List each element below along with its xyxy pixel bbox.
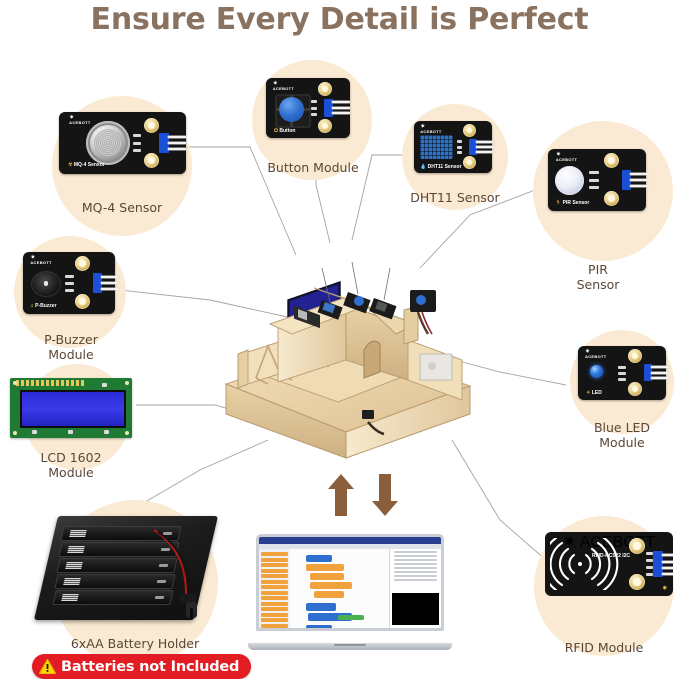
music-note-icon: ♫ — [30, 303, 34, 309]
laptop-lid — [256, 534, 444, 631]
mounting-hole — [13, 381, 17, 385]
mounting-hole — [144, 153, 159, 168]
connector-3pin — [159, 133, 169, 153]
infographic-canvas: Ensure Every Detail is Perfect ✷ ACEBOTT — [0, 0, 679, 679]
buzzer-icon — [31, 271, 61, 297]
ide-block-palette[interactable] — [259, 549, 290, 629]
connector-3pin — [622, 170, 631, 190]
module-mq4-sensor[interactable]: ✷ ACEBOTT ☢ MQ-4 Sensor — [59, 112, 186, 174]
ide-titlebar — [259, 537, 441, 544]
code-block[interactable] — [306, 603, 336, 611]
label-button-module: Button Module — [238, 160, 388, 175]
gas-sensor-icon — [86, 121, 130, 165]
module-silkscreen: ☀ LED — [586, 390, 602, 396]
label-p-buzzer-module: P-Buzzer Module — [10, 332, 132, 362]
wooden-smart-house-model — [218, 232, 476, 460]
code-block[interactable] — [338, 615, 364, 620]
connector-3pin — [324, 99, 333, 117]
code-block[interactable] — [310, 582, 352, 589]
module-blue-led[interactable]: ✷ ACEBOTT ☀ LED — [578, 346, 666, 400]
ide-body — [259, 549, 441, 629]
acebott-logo-icon: ✷ ACEBOTT — [69, 116, 90, 125]
label-blueled-line2: Module — [599, 435, 644, 450]
mounting-hole — [629, 574, 645, 590]
acebott-logo-icon: ✷ ACEBOTT — [420, 125, 441, 134]
label-battery-holder: 6xAA Battery Holder — [40, 636, 230, 651]
arrow-down-icon — [372, 474, 398, 521]
rfid-wave-icon — [550, 538, 624, 590]
pir-dome-icon — [555, 166, 584, 195]
warning-text: Batteries not Included — [61, 659, 251, 675]
acebott-logo-icon: ✷ ACEBOTT — [556, 153, 577, 162]
connector-4pin — [653, 551, 663, 577]
ide-script-canvas[interactable] — [290, 549, 389, 629]
connector-3pin — [469, 139, 477, 155]
connector-3pin — [644, 364, 652, 381]
mounting-hole — [144, 118, 159, 133]
button-icon[interactable] — [279, 97, 304, 122]
ide-screen[interactable] — [259, 537, 441, 628]
mounting-hole — [318, 82, 332, 96]
module-silkscreen: ☢ MQ-4 Sensor — [68, 162, 105, 168]
rfid-badge-icon: ◉ — [663, 585, 667, 591]
pin-pads — [133, 134, 141, 152]
label-pir-line2: Sensor — [577, 277, 620, 292]
label-dht11-sensor: DHT11 Sensor — [380, 190, 530, 205]
acebott-logo-icon: ✷ ACEBOTT — [585, 350, 606, 359]
label-lcd-line1: LCD 1602 — [40, 450, 101, 465]
mounting-hole — [604, 191, 619, 206]
code-block[interactable] — [314, 591, 344, 598]
module-p-buzzer[interactable]: ✷ ACEBOTT ♫ P-Buzzer — [23, 252, 115, 314]
module-silkscreen: RFID-RC522 I2C — [589, 553, 633, 560]
mounting-hole — [13, 431, 17, 435]
mounting-hole — [628, 382, 642, 396]
pin-pads — [618, 366, 626, 381]
module-silkscreen: ♫ P-Buzzer — [30, 303, 57, 309]
ide-simulator-view — [392, 593, 439, 625]
module-silkscreen: 💧 DHT11 Sensor — [420, 164, 462, 170]
solder-pad — [104, 430, 109, 434]
lcd-display-icon — [20, 390, 126, 428]
label-mq4-sensor: MQ-4 Sensor — [42, 200, 202, 215]
connector-3pin — [93, 273, 102, 293]
mounting-hole — [604, 153, 619, 168]
power-icon: ⏻ — [274, 128, 278, 134]
mounting-hole — [318, 119, 332, 133]
solder-pad — [32, 430, 37, 434]
mounting-hole — [75, 256, 90, 271]
gas-icon: ☢ — [68, 162, 72, 168]
bulb-icon: ☀ — [586, 390, 590, 396]
battery-holder — [46, 516, 206, 620]
module-button[interactable]: ✷ ACEBOTT ⏻ Button — [266, 78, 350, 138]
module-lcd-1602[interactable] — [10, 378, 132, 438]
pin-pads — [589, 171, 599, 189]
solder-pad — [102, 383, 107, 387]
warning-triangle-icon — [39, 659, 56, 674]
battery-wires — [46, 516, 206, 620]
pin-header — [16, 380, 84, 385]
label-pbuzzer-line2: Module — [48, 347, 93, 362]
module-pir-sensor[interactable]: ✷ ACEBOTT 🏃 PIR Sensor — [548, 149, 646, 211]
acebott-logo-icon: ✷ ACEBOTT — [273, 82, 294, 91]
humidity-icon: 💧 — [420, 164, 426, 170]
module-rfid[interactable]: ✷ ACEBOTT RFID-RC522 I2C ◉ — [545, 532, 673, 596]
mounting-hole — [125, 381, 129, 385]
pin-pads — [646, 552, 653, 576]
ide-preview-panel — [389, 549, 441, 629]
code-block[interactable] — [306, 555, 332, 562]
mounting-hole — [629, 538, 645, 554]
label-blueled-line1: Blue LED — [594, 420, 650, 435]
label-pir-sensor: PIR Sensor — [543, 262, 653, 292]
mounting-hole — [75, 294, 90, 309]
solder-pad — [68, 430, 73, 434]
mounting-hole — [628, 349, 642, 363]
arrow-up-icon — [328, 474, 354, 521]
module-silkscreen: ⏻ Button — [274, 128, 295, 134]
label-rfid-module: RFID Module — [534, 640, 674, 655]
mounting-hole — [463, 124, 476, 137]
code-block[interactable] — [306, 625, 332, 629]
thermometer-icon — [420, 135, 453, 159]
code-block[interactable] — [310, 573, 344, 580]
motion-person-icon: 🏃 — [555, 200, 561, 206]
label-pbuzzer-line1: P-Buzzer — [44, 332, 98, 347]
label-blue-led-module: Blue LED Module — [565, 420, 679, 450]
pin-pads — [457, 140, 462, 154]
pin-pads — [311, 100, 317, 116]
label-lcd-1602-module: LCD 1602 Module — [8, 450, 134, 480]
label-pir-line1: PIR — [588, 262, 608, 277]
module-dht11-sensor[interactable]: ✷ ACEBOTT 💧 DHT11 Sensor — [414, 121, 492, 173]
laptop-icon — [256, 534, 444, 650]
acebott-logo-icon: ✷ ACEBOTT — [30, 256, 51, 265]
laptop-base — [248, 643, 451, 650]
led-bulb-icon — [590, 365, 603, 378]
module-silkscreen: 🏃 PIR Sensor — [555, 200, 589, 206]
batteries-not-included-banner: Batteries not Included — [32, 654, 251, 679]
label-lcd-line2: Module — [48, 465, 93, 480]
code-block[interactable] — [306, 564, 344, 571]
pin-pads — [65, 275, 74, 292]
mounting-hole — [125, 431, 129, 435]
mounting-hole — [463, 156, 476, 169]
